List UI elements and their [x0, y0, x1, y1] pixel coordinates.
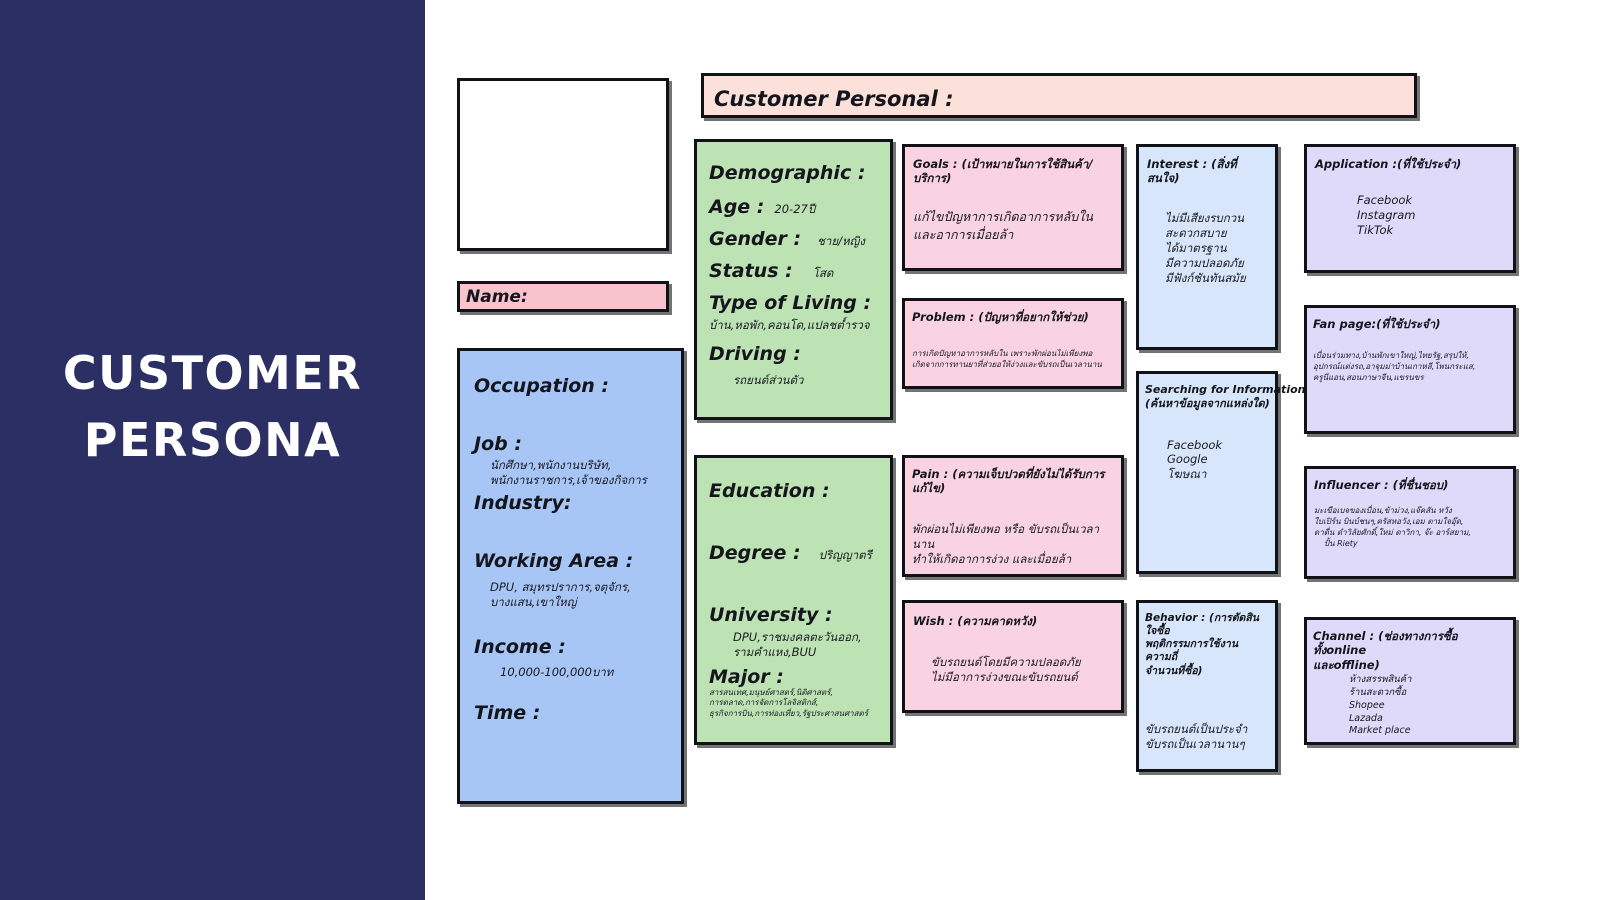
- occupation-card: Occupation : Job : นักศึกษา,พนักงานบริษั…: [457, 348, 684, 804]
- channel-card: Channel : (ช่องทางการซื้อ ทั้งonline และ…: [1304, 617, 1516, 745]
- university-line2: รามคำแหง,BUU: [733, 645, 880, 660]
- working-area-line2: บางแสน,เขาใหญ่: [490, 595, 667, 610]
- fanpage-line2: อุปกรณ์แต่งรถ,อาจุมม่าบ้านเกาหลี,โพนกระแ…: [1313, 362, 1508, 373]
- name-label: Name:: [460, 284, 666, 307]
- job-value-line1: นักศึกษา,พนักงานบริษัท,: [490, 458, 667, 473]
- customer-personal-banner: Customer Personal :: [701, 73, 1417, 118]
- wish-card: Wish : (ความคาดหวัง) ขับรถยนต์โดยมีความป…: [902, 600, 1124, 713]
- working-area-label: Working Area :: [474, 552, 667, 572]
- persona-photo-placeholder[interactable]: [457, 78, 669, 251]
- channel-item: Lazada: [1349, 713, 1509, 726]
- interest-item: มีความปลอดภัย: [1165, 256, 1269, 271]
- fanpage-line1: เบื่อนร่วมทาง,บ้านพักเขาใหญ่,ไทยรัฐ,สรุป…: [1313, 351, 1508, 362]
- searching-item: Facebook: [1167, 438, 1271, 453]
- influencer-line4: ปั้น Riety: [1324, 539, 1508, 550]
- wish-line1: ขับรถยนต์โดยมีความปลอดภัย: [931, 655, 1113, 670]
- searching-heading-line1: Searching for Information: [1145, 383, 1271, 397]
- status-label: Status :: [709, 262, 793, 282]
- interest-card: Interest : (สิ่งที่สนใจ) ไม่มีเสียงรบกวน…: [1136, 144, 1278, 350]
- occupation-heading: Occupation :: [474, 377, 667, 397]
- application-item: Facebook: [1357, 193, 1505, 208]
- interest-item: ไม่มีเสียงรบกวน: [1165, 211, 1269, 226]
- wish-line2: ไม่มีอาการง่วงขณะขับรถยนต์: [931, 670, 1113, 685]
- searching-item: Google: [1167, 452, 1271, 467]
- problem-heading: Problem : (ปัญหาที่อยากให้ช่วย): [912, 310, 1114, 324]
- interest-item: สะดวกสบาย: [1165, 226, 1269, 241]
- goals-heading: Goals : (เป้าหมายในการใช้สินค้า/บริการ): [913, 157, 1113, 186]
- influencer-line1: มะเขือเบจของเบื่อน,ข้าม่วง,แจ๊คสัน หวัง: [1314, 506, 1508, 517]
- education-card: Education : Degree : ปริญญาตรี Universit…: [694, 455, 893, 745]
- major-line3: ธุรกิจการบิน,การท่องเที่ยว,รัฐประศาสนศาส…: [709, 709, 880, 720]
- problem-card: Problem : (ปัญหาที่อยากให้ช่วย) การเกิดป…: [902, 298, 1124, 389]
- page-title-line1: CUSTOMER: [0, 340, 425, 407]
- pain-heading: Pain : (ความเจ็บปวดที่ยังไม่ได้รับการแก้…: [912, 467, 1114, 496]
- influencer-card: Influencer : (ที่ชื่นชอบ) มะเขือเบจของเบ…: [1304, 466, 1516, 579]
- application-item: Instagram: [1357, 208, 1505, 223]
- behavior-line2: ขับรถเป็นเวลานานๆ: [1145, 737, 1270, 752]
- income-value: 10,000-100,000บาท: [500, 665, 667, 680]
- fanpage-line3: ครูนีแอน,สอนภาษาจีน,แขรนขร: [1313, 373, 1508, 384]
- searching-item: โฆษณา: [1167, 467, 1271, 482]
- goals-card: Goals : (เป้าหมายในการใช้สินค้า/บริการ) …: [902, 144, 1124, 271]
- behavior-card: Behavior : (การตัดสินใจซื้อ พฤติกรรมการใ…: [1136, 600, 1278, 772]
- demographic-card: Demographic : Age : 20-27ปี Gender : ชาย…: [694, 139, 893, 420]
- age-value: 20-27ปี: [774, 202, 815, 217]
- income-label: Income :: [474, 638, 667, 658]
- major-line1: สารสนเทศ,มนุษย์ศาสตร์,นิติศาสตร์,: [709, 688, 880, 699]
- application-card: Application :(ที่ใช้ประจำ) Facebook Inst…: [1304, 144, 1516, 273]
- degree-label: Degree :: [709, 544, 801, 564]
- behavior-heading-line2: พฤติกรรมการใช้งาน ความถี่: [1145, 638, 1270, 664]
- influencer-line2: ใบเปิร์น บินบ์ชนๆ,ครัสหอวัง,เอม ตามใจอุ๊…: [1314, 517, 1508, 528]
- name-field-box[interactable]: Name:: [457, 281, 669, 312]
- driving-value: รถยนต์ส่วนตัว: [733, 373, 878, 388]
- gender-label: Gender :: [709, 230, 801, 250]
- interest-heading: Interest : (สิ่งที่สนใจ): [1147, 157, 1269, 186]
- pain-line2: ทำให้เกิดอาการง่วง และเมื่อยล้า: [912, 552, 1114, 567]
- industry-label: Industry:: [474, 494, 667, 514]
- age-label: Age :: [709, 198, 764, 218]
- pain-line1: พักผ่อนไม่เพียงพอ หรือ ขับรถเป็นเวลานาน: [912, 522, 1114, 552]
- education-heading: Education :: [709, 482, 880, 502]
- demographic-heading: Demographic :: [709, 164, 878, 184]
- banner-label: Customer Personal :: [704, 76, 1414, 110]
- status-value: โสด: [813, 266, 834, 281]
- fanpage-card: Fan page:(ที่ใช้ประจำ) เบื่อนร่วมทาง,บ้า…: [1304, 305, 1516, 434]
- behavior-heading-line3: จำนวนที่ซื้อ): [1145, 665, 1270, 678]
- problem-line2: เกิดจากการทานยาที่ส่วยอให้ง่วงและขับรถเป…: [912, 360, 1114, 371]
- degree-value: ปริญญาตรี: [819, 548, 872, 563]
- influencer-heading: Influencer : (ที่ชื่นชอบ): [1314, 478, 1508, 492]
- university-line1: DPU,ราชมงคลตะวันออก,: [733, 630, 880, 645]
- channel-heading-line1: Channel : (ช่องทางการซื้อ ทั้งonline: [1313, 629, 1509, 658]
- interest-item: มีฟังก์ชันทันสมัย: [1165, 271, 1269, 286]
- major-label: Major :: [709, 668, 880, 688]
- major-line2: การตลาด,การจัดการโลจิสติกส์,: [709, 698, 880, 709]
- wish-heading: Wish : (ความคาดหวัง): [913, 614, 1113, 628]
- page-title-line2: PERSONA: [0, 407, 425, 474]
- job-value-line2: พนักงานราชการ,เจ้าของกิจการ: [490, 473, 667, 488]
- channel-item: ห้างสรรพสินค้า: [1349, 674, 1509, 687]
- goals-line1: แก้ไขปัญหาการเกิดอาการหลับใน: [913, 208, 1113, 226]
- channel-item: Market place: [1349, 725, 1509, 738]
- behavior-heading-line1: Behavior : (การตัดสินใจซื้อ: [1145, 612, 1270, 638]
- gender-value: ชาย/หญิง: [817, 234, 865, 249]
- problem-line1: การเกิดปัญหาอาการหลับใน เพราะพักผ่อนไม่เ…: [912, 349, 1114, 360]
- driving-label: Driving :: [709, 345, 878, 365]
- pain-card: Pain : (ความเจ็บปวดที่ยังไม่ได้รับการแก้…: [902, 455, 1124, 577]
- searching-heading-line2: (ค้นหาข้อมูลจากแหล่งใด): [1145, 397, 1271, 411]
- persona-canvas: CUSTOMER PERSONA Name: Occupation : Job …: [0, 0, 1600, 900]
- fanpage-heading: Fan page:(ที่ใช้ประจำ): [1313, 317, 1508, 331]
- channel-item: Shopee: [1349, 700, 1509, 713]
- influencer-line3: ดาดื่น ดำวิลัยศักดิ์,ใหม่ ดาวิกา, จ๊ะ อา…: [1314, 528, 1508, 539]
- type-of-living-label: Type of Living :: [709, 294, 878, 314]
- channel-heading-line2: และoffline): [1313, 658, 1509, 672]
- time-label: Time :: [474, 704, 667, 724]
- working-area-line1: DPU, สมุทรปราการ,จตุจักร,: [490, 580, 667, 595]
- interest-item: ได้มาตรฐาน: [1165, 241, 1269, 256]
- searching-information-card: Searching for Information (ค้นหาข้อมูลจา…: [1136, 371, 1278, 574]
- goals-line2: และอาการเมื่อยล้า: [913, 226, 1113, 244]
- application-heading: Application :(ที่ใช้ประจำ): [1315, 157, 1505, 171]
- job-label: Job :: [474, 435, 667, 455]
- application-item: TikTok: [1357, 223, 1505, 238]
- page-title: CUSTOMER PERSONA: [0, 340, 425, 473]
- behavior-line1: ขับรถยนต์เป็นประจำ: [1145, 722, 1270, 737]
- university-label: University :: [709, 606, 880, 626]
- type-of-living-value: บ้าน,หอพัก,คอนโด,แปลชต์ำรวจ: [709, 318, 878, 333]
- channel-item: ร้านสะดวกซื้อ: [1349, 687, 1509, 700]
